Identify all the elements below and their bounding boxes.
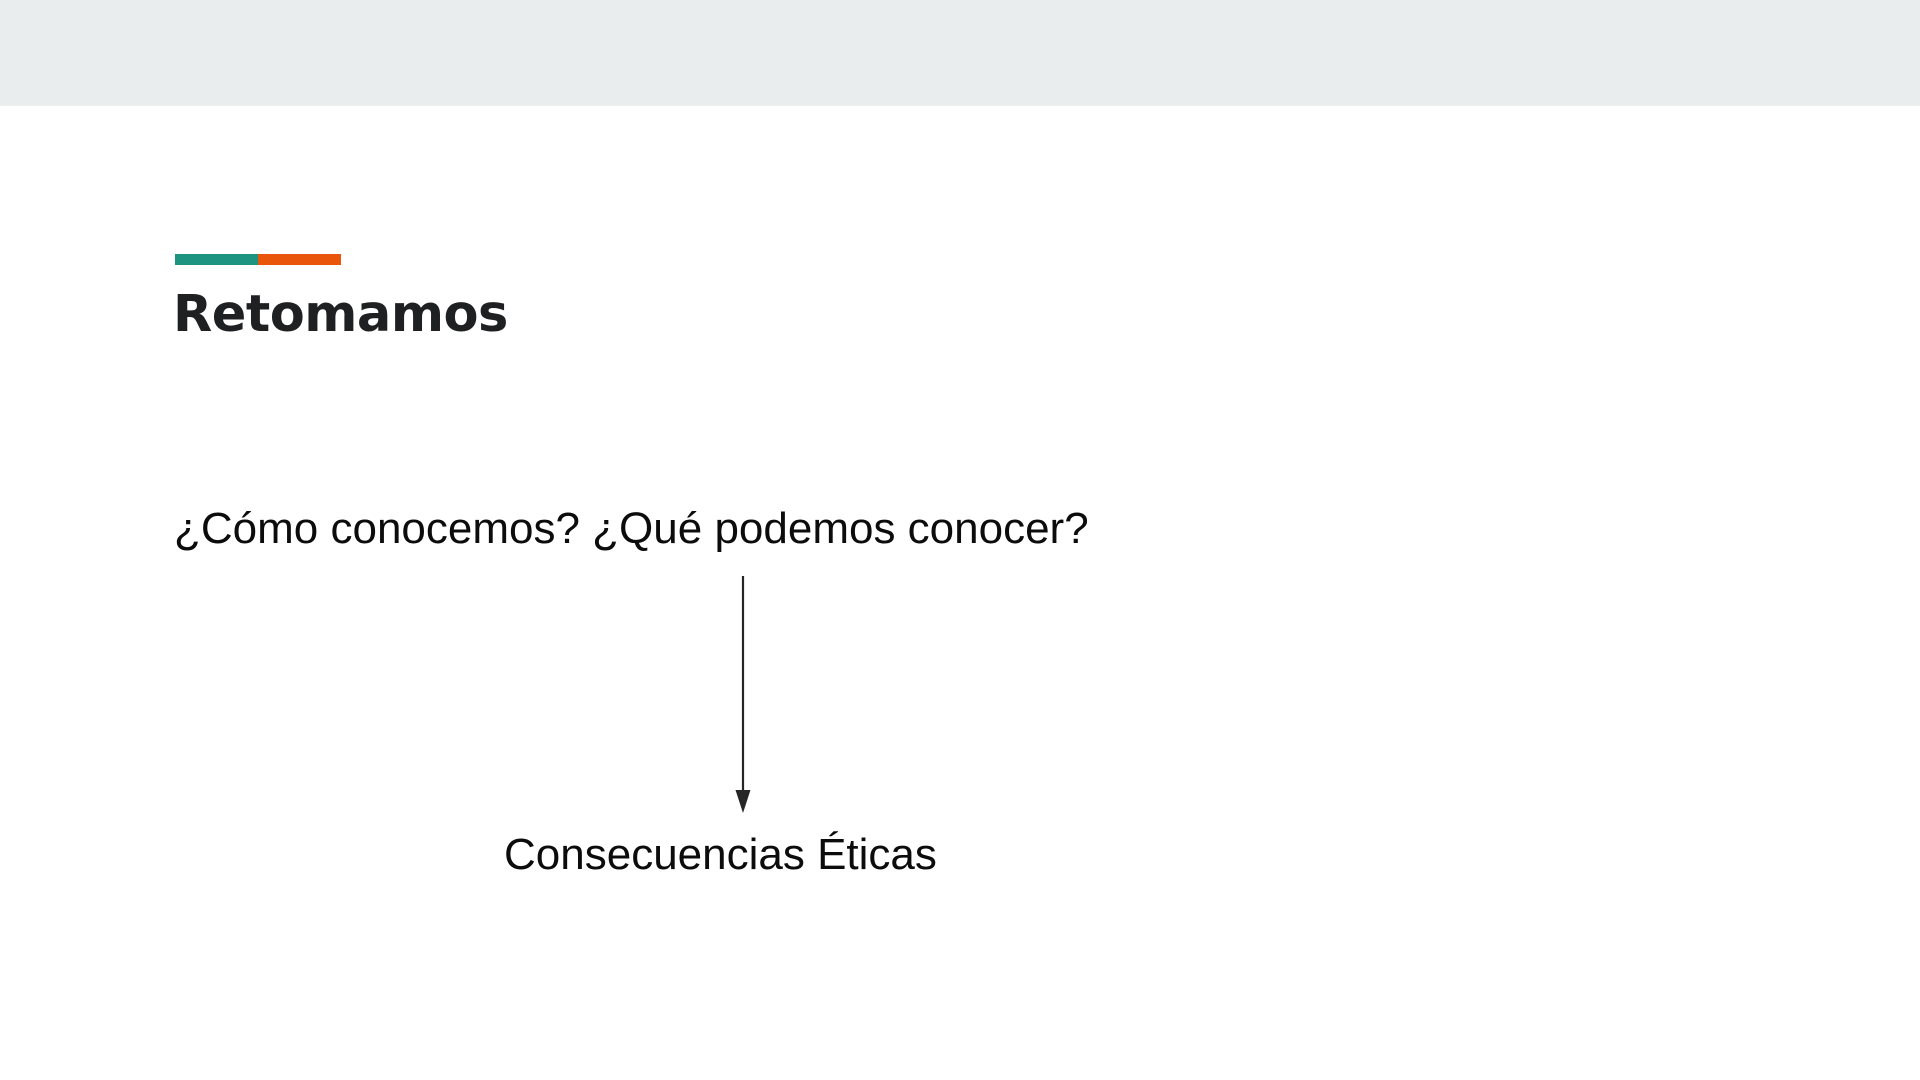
conclusion-text: Consecuencias Éticas xyxy=(504,829,937,882)
title-accent-rule xyxy=(175,254,341,265)
slide-content: Retomamos ¿Cómo conocemos? ¿Qué podemos … xyxy=(0,106,1920,1080)
page-title: Retomamos xyxy=(173,286,508,345)
accent-segment-teal xyxy=(175,254,258,265)
presentation-slide: Retomamos ¿Cómo conocemos? ¿Qué podemos … xyxy=(0,0,1920,1080)
question-text: ¿Cómo conocemos? ¿Qué podemos conocer? xyxy=(174,503,1089,556)
header-band xyxy=(0,0,1920,106)
accent-segment-orange xyxy=(258,254,341,265)
down-arrow-icon xyxy=(700,576,820,816)
